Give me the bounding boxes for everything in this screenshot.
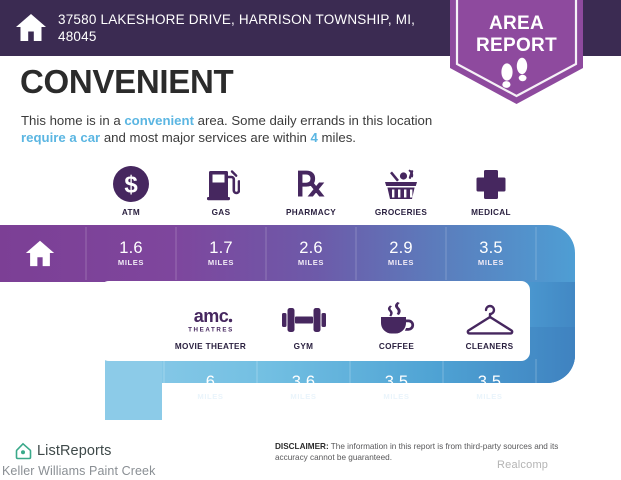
medical-cross-icon	[446, 163, 536, 203]
disclaimer: DISCLAIMER: The information in this repo…	[275, 442, 587, 463]
distance-value: 2.9	[356, 240, 446, 257]
distance-value: 3.5	[446, 240, 536, 257]
amenity-label: PHARMACY	[266, 208, 356, 217]
gas-pump-icon	[176, 163, 266, 203]
listreports-logo: ListReports	[14, 442, 111, 460]
amenity-gym: GYM	[257, 297, 350, 351]
amenity-label: GAS	[176, 208, 266, 217]
distance-unit: MILES	[86, 258, 176, 267]
dumbbell-icon	[257, 297, 350, 337]
distance-coffee: 3.5 MILES	[350, 374, 443, 401]
svg-text:THEATRES: THEATRES	[188, 327, 234, 334]
distance-gym: 3.6 MILES	[257, 374, 350, 401]
brokerage-name: Keller Williams Paint Creek	[2, 464, 155, 478]
distance-unit: MILES	[350, 392, 443, 401]
amenity-cleaners: CLEANERS	[443, 297, 536, 351]
desc-highlight-convenient: convenient	[124, 113, 194, 128]
groceries-basket-icon	[356, 163, 446, 203]
distance-unit: MILES	[443, 392, 536, 401]
amenity-gas: GAS	[176, 163, 266, 217]
distance-unit: MILES	[266, 258, 356, 267]
area-report-infographic: 37580 LAKESHORE DRIVE, HARRISON TOWNSHIP…	[0, 0, 621, 480]
pharmacy-rx-icon: ℞	[266, 163, 356, 203]
desc-part1: This home is in a	[21, 113, 124, 128]
amenity-icons-row-1: $ ATM GAS	[86, 163, 536, 225]
distance-value: 1.7	[176, 240, 266, 257]
distance-value: 2.6	[266, 240, 356, 257]
distance-gas: 1.7 MILES	[176, 240, 266, 267]
desc-highlight-require-a-car: require a car	[21, 130, 100, 145]
house-icon	[14, 10, 48, 44]
listreports-name: ListReports	[37, 443, 111, 459]
amenity-label: GYM	[257, 342, 350, 351]
badge-line2: REPORT	[450, 35, 583, 57]
distance-value: 6	[164, 374, 257, 391]
distance-value: 3.5	[443, 374, 536, 391]
svg-text:℞: ℞	[296, 167, 326, 203]
distance-movie-theater: 6 MILES	[164, 374, 257, 401]
area-report-badge: AREA REPORT	[450, 0, 583, 104]
svg-text:$: $	[124, 172, 138, 199]
amenity-coffee: COFFEE	[350, 297, 443, 351]
coffee-cup-icon	[350, 297, 443, 337]
desc-part3: and most major services are within	[100, 130, 310, 145]
amc-theatres-logo-icon: amc THEATRES	[164, 297, 257, 337]
amenity-label: MEDICAL	[446, 208, 536, 217]
clothes-hanger-icon	[443, 297, 536, 337]
desc-part2: area. Some daily errands in this locatio…	[194, 113, 432, 128]
atm-dollar-icon: $	[86, 163, 176, 203]
distance-unit: MILES	[164, 392, 257, 401]
desc-part4: miles.	[318, 130, 356, 145]
distance-value: 1.6	[86, 240, 176, 257]
property-address: 37580 LAKESHORE DRIVE, HARRISON TOWNSHIP…	[58, 11, 438, 45]
page-title: CONVENIENT	[20, 63, 233, 101]
listreports-house-icon	[14, 442, 32, 460]
badge-line1: AREA	[450, 13, 583, 35]
amenity-groceries: GROCERIES	[356, 163, 446, 217]
description-text: This home is in a convenient area. Some …	[21, 113, 445, 146]
desc-highlight-miles: 4	[311, 130, 318, 145]
distance-unit: MILES	[176, 258, 266, 267]
svg-text:amc: amc	[193, 306, 228, 326]
distance-unit: MILES	[356, 258, 446, 267]
distance-value: 3.5	[350, 374, 443, 391]
amenity-label: CLEANERS	[443, 342, 536, 351]
amenity-medical: MEDICAL	[446, 163, 536, 217]
distance-groceries: 2.9 MILES	[356, 240, 446, 267]
distance-pharmacy: 2.6 MILES	[266, 240, 356, 267]
distance-medical: 3.5 MILES	[446, 240, 536, 267]
badge-text: AREA REPORT	[450, 13, 583, 57]
amenity-atm: $ ATM	[86, 163, 176, 217]
distance-unit: MILES	[257, 392, 350, 401]
footer: ListReports Keller Williams Paint Creek …	[0, 428, 621, 480]
amenity-movie-theater: amc THEATRES MOVIE THEATER	[164, 297, 257, 351]
amenity-label: MOVIE THEATER	[164, 342, 257, 351]
amenity-label: ATM	[86, 208, 176, 217]
distance-unit: MILES	[446, 258, 536, 267]
amenity-pharmacy: ℞ PHARMACY	[266, 163, 356, 217]
home-marker-house-icon	[24, 237, 56, 269]
amenity-label: COFFEE	[350, 342, 443, 351]
distance-cleaners: 3.5 MILES	[443, 374, 536, 401]
amenity-label: GROCERIES	[356, 208, 446, 217]
distance-value: 3.6	[257, 374, 350, 391]
disclaimer-label: DISCLAIMER:	[275, 442, 329, 451]
amenity-icons-row-2: amc THEATRES MOVIE THEATER	[164, 297, 536, 357]
distance-atm: 1.6 MILES	[86, 240, 176, 267]
